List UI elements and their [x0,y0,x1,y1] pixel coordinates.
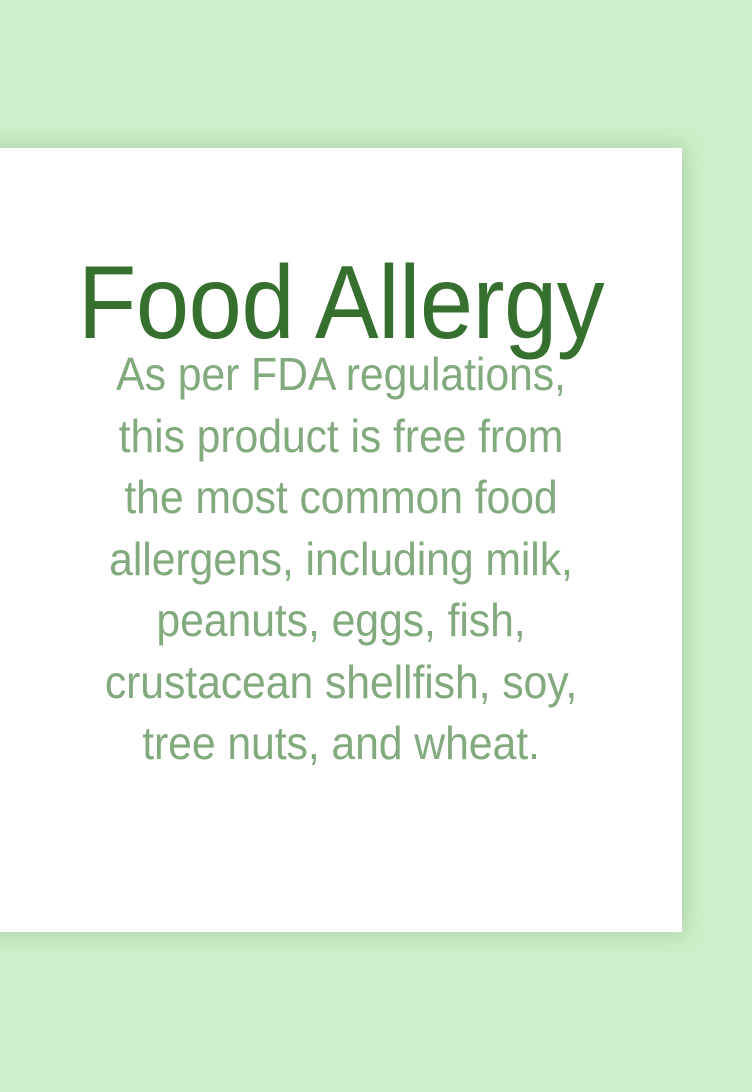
statement-line: crustacean shellfish, soy, [48,652,634,714]
statement-line: tree nuts, and wheat. [48,713,634,775]
statement-line: peanuts, eggs, fish, [48,590,634,652]
statement-line: this product is free from [48,406,634,468]
allergy-statement: As per FDA regulations, this product is … [48,344,634,775]
statement-line: allergens, including milk, [48,529,634,591]
statement-line: As per FDA regulations, [48,344,634,406]
food-allergy-card: Food Allergy As per FDA regulations, thi… [0,148,682,932]
card-content: Food Allergy As per FDA regulations, thi… [0,148,682,932]
page-canvas: Food Allergy As per FDA regulations, thi… [0,0,752,1092]
statement-line: the most common food [48,467,634,529]
